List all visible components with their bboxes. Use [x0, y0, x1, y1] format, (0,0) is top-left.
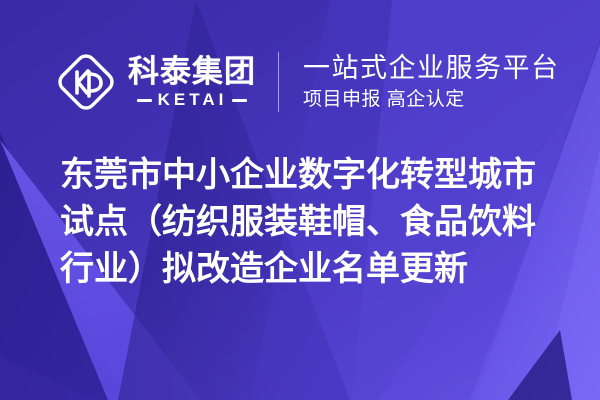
- logo-dash-left-icon: [137, 99, 152, 102]
- tagline-block: 一站式企业服务平台 项目申报 高企认定: [303, 52, 560, 113]
- logo-dash-right-icon: [232, 99, 247, 102]
- logo-wordmark: 科泰集团 KETAI: [128, 55, 256, 109]
- header-divider: [278, 52, 279, 112]
- headline-title: 东莞市中小企业数字化转型城市试点（纺织服装鞋帽、食品饮料行业）拟改造企业名单更新: [60, 152, 560, 293]
- logo-company-name-cn: 科泰集团: [128, 55, 256, 89]
- logo-company-name-en: KETAI: [158, 91, 228, 109]
- brand-logo[interactable]: 科泰集团 KETAI: [56, 52, 256, 112]
- logo-english-row: KETAI: [128, 91, 256, 109]
- ketai-diamond-monogram-icon: [56, 52, 116, 112]
- tagline-secondary: 项目申报 高企认定: [303, 87, 560, 113]
- promo-banner: 科泰集团 KETAI 一站式企业服务平台 项目申报 高企认定 东莞市中小企业数字…: [0, 0, 600, 400]
- tagline-primary: 一站式企业服务平台: [303, 52, 560, 85]
- banner-header: 科泰集团 KETAI 一站式企业服务平台 项目申报 高企认定: [0, 42, 600, 122]
